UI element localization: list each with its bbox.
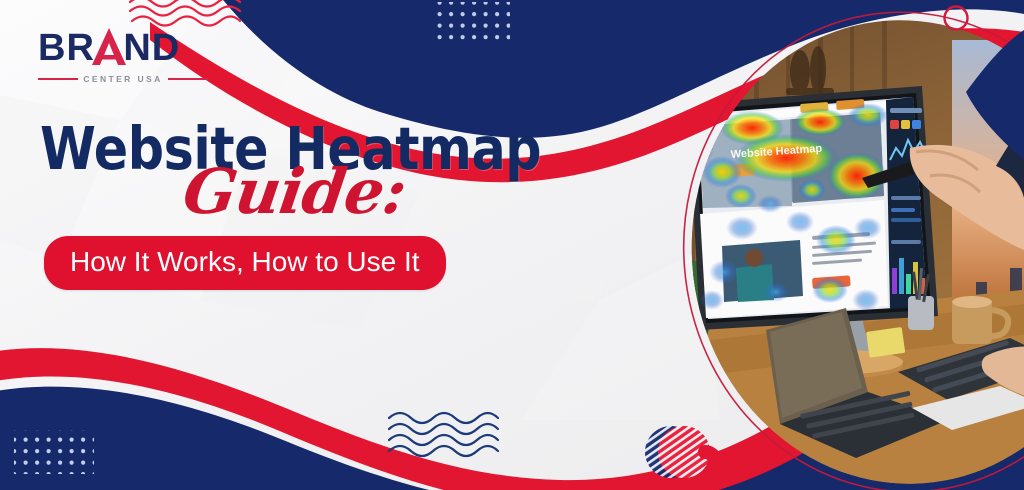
headline-script: Guide: [180,162,584,222]
logo-subtitle: CENTER USA [83,74,162,84]
logo-text-after: ND [123,27,180,69]
logo-rule-right [168,78,208,80]
headline-block: Website Heatmap Guide: How It Works, How… [40,118,580,290]
subtitle-pill[interactable]: How It Works, How to Use It [44,236,446,290]
logo-text: BRA ND [38,28,208,68]
brand-logo[interactable]: BRA ND CENTER USA [38,28,208,90]
monitor-screen: Website Heatmap [686,97,927,319]
sticky-note [866,327,905,358]
hero-banner: Website Heatmap [0,0,1024,490]
logo-subtitle-row: CENTER USA [38,72,208,86]
logo-wordmark: BRA ND [38,28,208,68]
dot-grid-top [434,2,510,44]
logo-triangle-icon [89,25,129,68]
dot-grid-bottom [14,430,94,474]
logo-rule-left [38,78,78,80]
logo-letter-a-wrap: A [95,28,123,68]
logo-text-before: BR [38,27,95,69]
